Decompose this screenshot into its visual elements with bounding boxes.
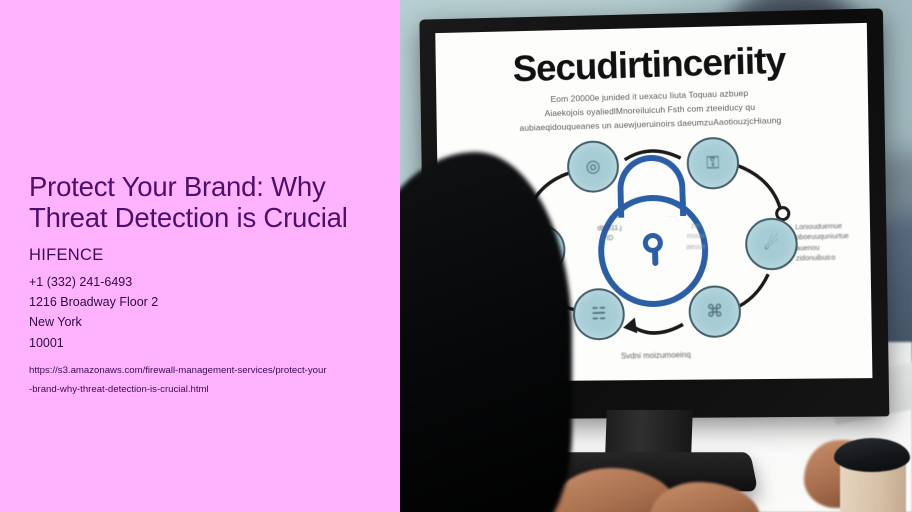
page-root: Protect Your Brand: Why Threat Detection…	[0, 0, 912, 512]
node-6-icon: ⌘	[706, 302, 724, 322]
hero-photo: Secudirtinceriity Eom 20000e junided it …	[400, 0, 912, 512]
monitor-neck	[605, 410, 693, 454]
slide-title: Secudirtinceriity	[444, 39, 856, 89]
article-text-block: Protect Your Brand: Why Threat Detection…	[29, 172, 391, 400]
article-url-line-1[interactable]: https://s3.amazonaws.com/firewall-manage…	[29, 362, 391, 381]
node-1-icon: ◎	[585, 157, 600, 177]
article-info-panel: Protect Your Brand: Why Threat Detection…	[0, 0, 400, 512]
brand-name: HIFENCE	[29, 246, 391, 265]
article-url-line-2[interactable]: -brand-why-threat-detection-is-crucial.h…	[29, 381, 391, 400]
postal-code: 10001	[29, 333, 391, 353]
slide-subtitle: Eom 20000e junided it uexacu Iiuta Toqua…	[445, 84, 858, 138]
article-url[interactable]: https://s3.amazonaws.com/firewall-manage…	[29, 362, 391, 399]
node-5-icon: ☵	[591, 304, 607, 324]
street-address: 1216 Broadway Floor 2	[29, 292, 391, 312]
diagram-label-right: Loniouduemue oboeuuquniurtue auenou zido…	[795, 222, 861, 264]
cup-lid	[834, 438, 910, 472]
node-2-icon: ⚿	[706, 153, 720, 173]
coffee-cup	[834, 430, 910, 512]
city: New York	[29, 312, 391, 332]
diagram-label-center-left: db 611.j ID	[597, 224, 623, 245]
node-4-icon: ☄	[763, 234, 779, 254]
page-title: Protect Your Brand: Why Threat Detection…	[29, 172, 391, 234]
phone-number[interactable]: +1 (332) 241-6493	[29, 272, 391, 292]
diagram-label-center-right: zin muuu aeuue	[682, 222, 709, 253]
